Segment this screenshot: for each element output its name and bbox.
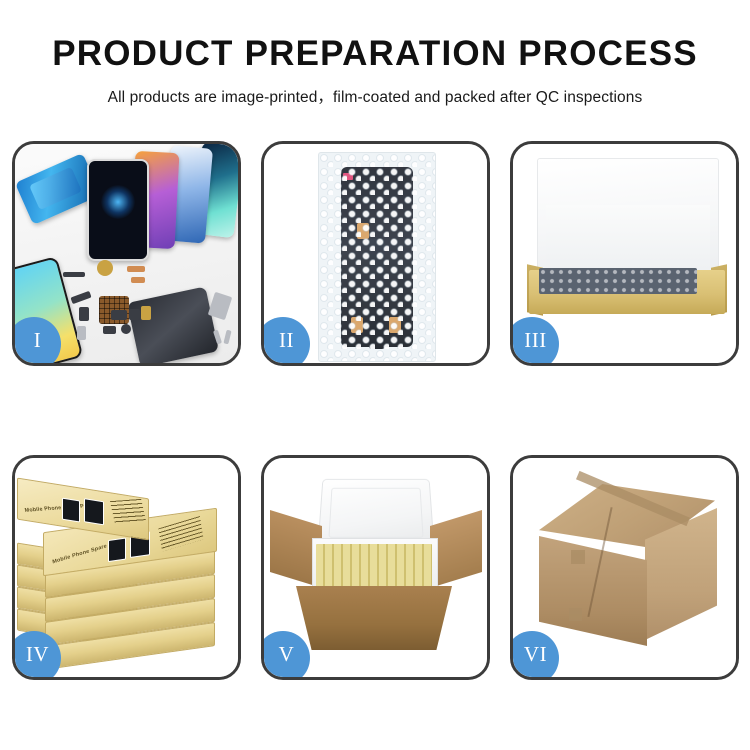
process-step-6: VI <box>510 455 739 680</box>
process-step-2: II <box>261 141 490 366</box>
connector-part <box>79 307 89 321</box>
box-label-spec-lines <box>158 516 203 552</box>
battery-connector-part <box>141 306 151 320</box>
screwdriver-part <box>223 330 231 345</box>
tape-tab <box>571 550 585 564</box>
flex-cable-part <box>131 277 145 283</box>
white-foam-lid <box>537 158 719 276</box>
process-step-4: Mobile Phone Spare Parts Mobile Phone Sp… <box>12 455 241 680</box>
header: PRODUCT PREPARATION PROCESS All products… <box>0 0 750 107</box>
box-label-thumbnail <box>62 498 80 523</box>
sim-tray-part <box>77 326 86 340</box>
box-label-thumbnail <box>84 498 104 525</box>
carton-body <box>296 586 452 650</box>
tape-tab <box>569 608 582 621</box>
page-subtitle: All products are image-printed，film-coat… <box>0 71 750 107</box>
earpiece-part <box>63 272 85 277</box>
product-preparation-infographic: PRODUCT PREPARATION PROCESS All products… <box>0 0 750 750</box>
process-step-grid: I II <box>12 141 738 741</box>
flex-cable-part <box>127 266 145 272</box>
page-title: PRODUCT PREPARATION PROCESS <box>0 0 750 71</box>
bubble-wrap-bag <box>318 152 436 362</box>
small-flex-part <box>70 291 91 304</box>
vibrator-part <box>103 326 116 334</box>
screw-part <box>121 324 131 334</box>
box-label-spec-lines <box>110 499 146 523</box>
packed-yellow-boxes <box>316 544 432 588</box>
bubble-texture <box>319 153 435 361</box>
box-label-thumbnail <box>108 538 126 563</box>
phone-screen-black <box>87 159 149 261</box>
process-step-1: I <box>12 141 241 366</box>
phone-motherboard <box>127 286 219 366</box>
process-step-5: V <box>261 455 490 680</box>
tweezers-part <box>208 292 233 320</box>
speaker-part <box>97 260 113 276</box>
bubble-wrap-filling <box>539 268 697 294</box>
camera-module-part <box>111 310 127 320</box>
button-part <box>129 309 140 320</box>
process-step-3: III <box>510 141 739 366</box>
